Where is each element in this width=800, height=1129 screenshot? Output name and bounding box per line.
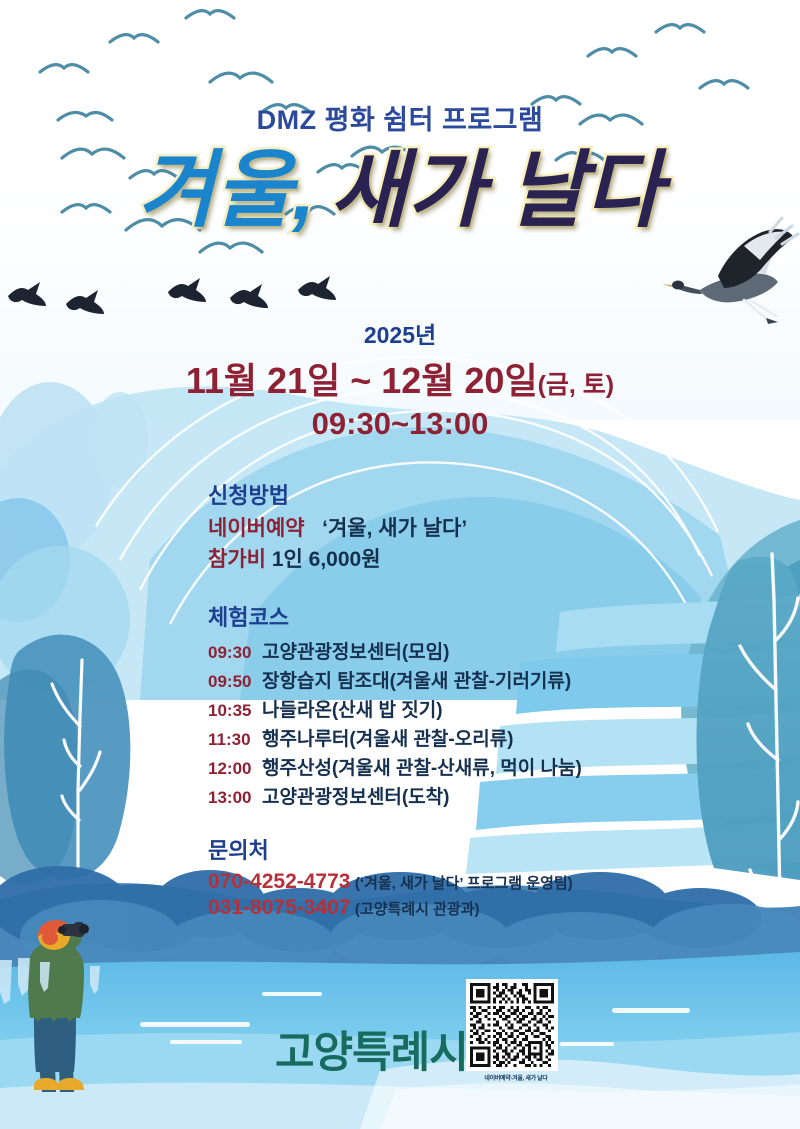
qr-code-block[interactable]: 네이버예약-겨울, 새가 날다 — [466, 979, 566, 1082]
course-item-time: 10:35 — [208, 701, 262, 721]
date-days-of-week: (금, 토) — [538, 371, 615, 399]
date-range-text: 11월 21일 ~ 12월 20일 — [186, 360, 538, 401]
course-item-name: 장항습지 탐조대(겨울새 관찰-기러기류) — [262, 666, 571, 693]
apply-method-value: ‘겨울, 새가 날다’ — [322, 517, 467, 540]
contact-note: (고양특례시 관광과) — [355, 901, 480, 918]
course-item: 13:00 고양관광정보센터(도착) — [208, 782, 638, 809]
title-part-birds-fly: 새가 날다 — [330, 148, 662, 232]
course-item-time: 13:00 — [208, 788, 262, 808]
course-item-name: 고양관광정보센터(모임) — [262, 637, 449, 664]
course-item: 09:50 장항습지 탐조대(겨울새 관찰-기러기류) — [208, 666, 638, 693]
title-part-winter: 겨울, — [138, 148, 316, 232]
apply-method-label: 네이버예약 — [208, 517, 305, 540]
contact-phone-number[interactable]: 031-8075-3407 — [208, 896, 350, 919]
course-item-time: 11:30 — [208, 730, 262, 750]
course-heading: 체험코스 — [208, 600, 638, 632]
program-subtitle: DMZ 평화 쉼터 프로그램 — [0, 98, 800, 137]
course-item-name: 나들라온(산새 밥 짓기) — [262, 695, 443, 722]
city-logo: 고양특례시 — [275, 1018, 468, 1080]
page-title: 겨울, 새가 날다 — [0, 148, 800, 232]
event-year: 2025년 — [0, 316, 800, 350]
course-item-name: 행주산성(겨울새 관찰-산새류, 먹이 나눔) — [262, 753, 582, 780]
qr-caption: 네이버예약-겨울, 새가 날다 — [466, 1073, 566, 1082]
contact-item: 070-4252-4773 (‘겨울, 새가 날다’ 프로그램 운영팀) — [208, 870, 638, 894]
qr-code-image[interactable] — [466, 979, 558, 1071]
apply-fee-value: 1인 6,000원 — [272, 548, 381, 571]
apply-method-row: 네이버예약 ‘겨울, 새가 날다’ — [208, 515, 638, 543]
course-item: 11:30 행주나루터(겨울새 관찰-오리류) — [208, 724, 638, 751]
course-item-time: 12:00 — [208, 759, 262, 779]
poster-canvas: DMZ 평화 쉼터 프로그램 겨울, 새가 날다 2025년 11월 21일 ~… — [0, 0, 800, 1129]
event-time: 09:30~13:00 — [0, 406, 800, 442]
event-date-range: 11월 21일 ~ 12월 20일(금, 토) — [0, 352, 800, 404]
contact-heading: 문의처 — [208, 833, 638, 865]
course-item-name: 행주나루터(겨울새 관찰-오리류) — [262, 724, 514, 751]
apply-heading: 신청방법 — [208, 478, 638, 510]
apply-fee-row: 참가비 1인 6,000원 — [208, 546, 638, 574]
course-item: 12:00 행주산성(겨울새 관찰-산새류, 먹이 나눔) — [208, 753, 638, 780]
course-item-time: 09:50 — [208, 672, 262, 692]
info-body: 신청방법 네이버예약 ‘겨울, 새가 날다’ 참가비 1인 6,000원 체험코… — [208, 478, 638, 922]
apply-fee-label: 참가비 — [208, 548, 266, 571]
course-item-time: 09:30 — [208, 643, 262, 663]
contact-note: (‘겨울, 새가 날다’ 프로그램 운영팀) — [355, 875, 573, 892]
contact-phone-number[interactable]: 070-4252-4773 — [208, 870, 350, 893]
course-item: 09:30 고양관광정보센터(모임) — [208, 637, 638, 664]
course-list: 09:30 고양관광정보센터(모임) 09:50 장항습지 탐조대(겨울새 관찰… — [208, 637, 638, 809]
course-item-name: 고양관광정보센터(도착) — [262, 782, 449, 809]
course-item: 10:35 나들라온(산새 밥 짓기) — [208, 695, 638, 722]
contact-item: 031-8075-3407 (고양특례시 관광과) — [208, 896, 638, 920]
